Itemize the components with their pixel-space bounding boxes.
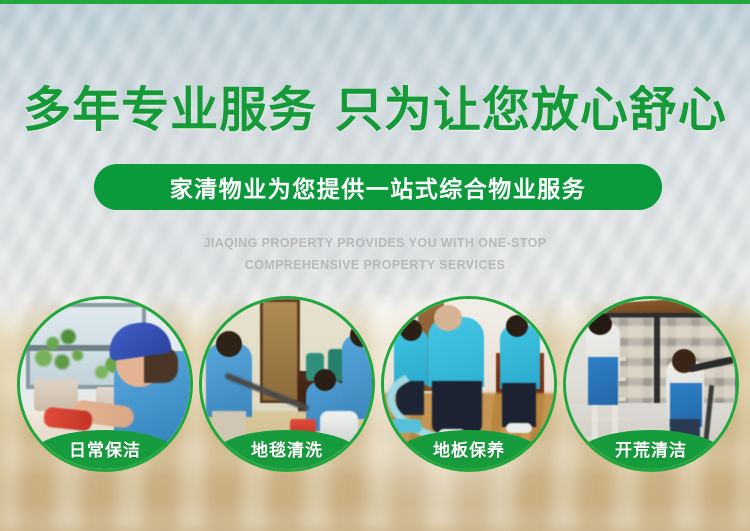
- service-label-text: 开荒清洁: [615, 436, 687, 461]
- service-circle-post-construction-cleaning[interactable]: 开荒清洁: [563, 296, 739, 472]
- service-circle-list: 日常保洁 地毯清洗: [0, 0, 750, 531]
- service-label-text: 地毯清洗: [251, 436, 323, 461]
- service-circle-daily-cleaning[interactable]: 日常保洁: [17, 296, 193, 472]
- service-circle-floor-maintenance[interactable]: 地板保养: [381, 296, 557, 472]
- promo-banner: 多年专业服务 只为让您放心舒心 家清物业为您提供一站式综合物业服务 JIAQIN…: [0, 0, 750, 531]
- service-label-text: 日常保洁: [69, 436, 141, 461]
- service-label-text: 地板保养: [433, 436, 505, 461]
- service-circle-carpet-cleaning[interactable]: 地毯清洗: [199, 296, 375, 472]
